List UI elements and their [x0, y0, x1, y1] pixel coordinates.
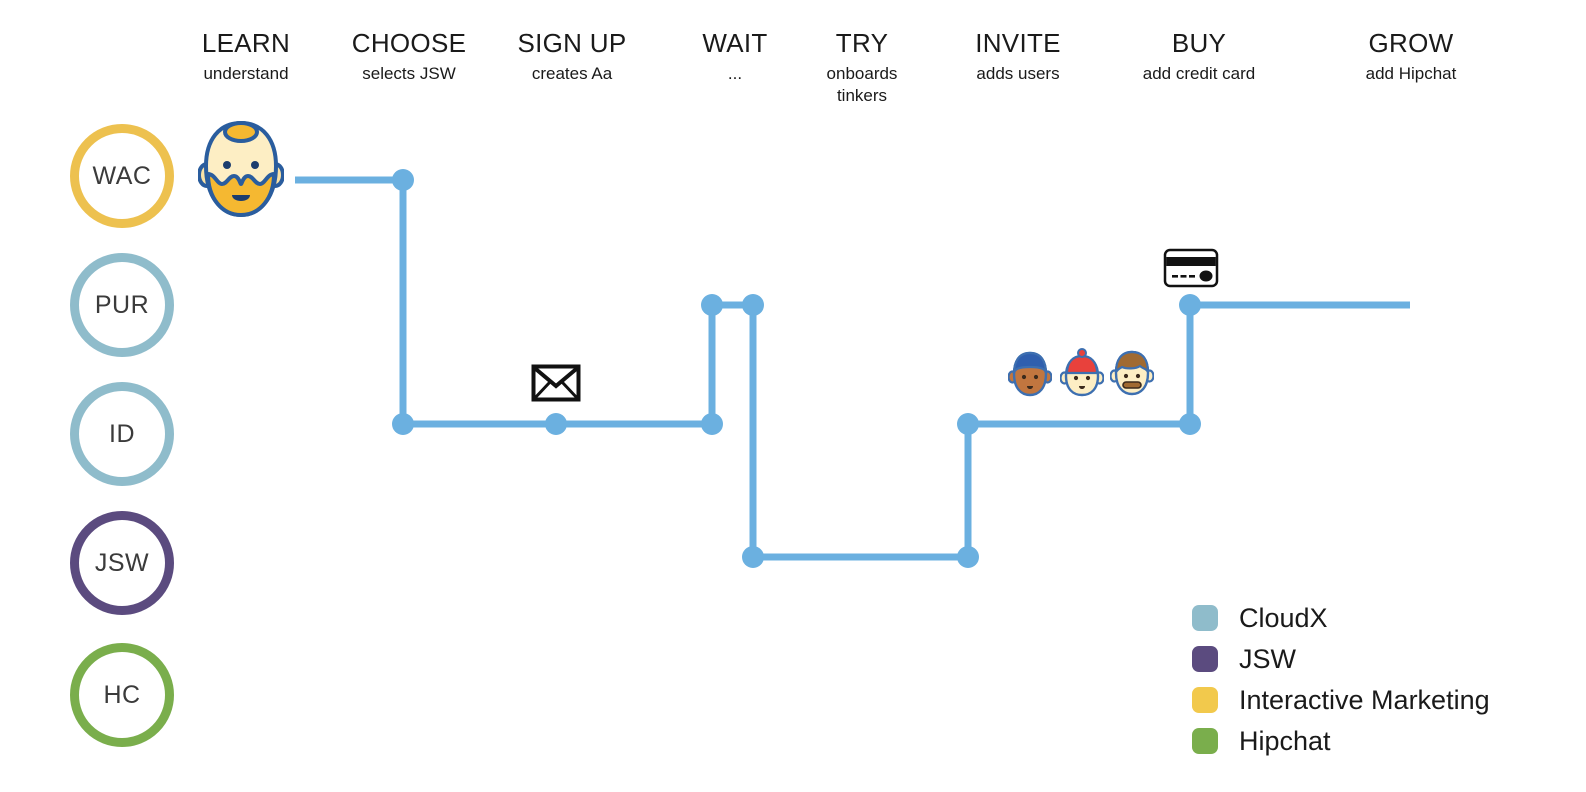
column-subtitle-line2: tinkers	[762, 85, 962, 107]
node-wait-high[interactable]	[701, 294, 723, 316]
legend-item-hipchat[interactable]: Hipchat	[1192, 720, 1490, 761]
stage-circle-label: ID	[109, 420, 135, 449]
node-learn-choose[interactable]	[392, 169, 414, 191]
column-header-buy: BUYadd credit card	[1099, 28, 1299, 85]
column-header-invite: INVITEadds users	[918, 28, 1118, 85]
stage-circle-label: HC	[103, 681, 140, 710]
column-subtitle: add credit card	[1099, 63, 1299, 85]
legend-item-interactive-marketing[interactable]: Interactive Marketing	[1192, 679, 1490, 720]
legend-label: CloudX	[1239, 603, 1328, 633]
stage-circle-label: PUR	[95, 291, 149, 320]
stage-circle-label: JSW	[95, 549, 149, 578]
column-title: BUY	[1099, 28, 1299, 58]
journey-diagram-canvas: LEARNunderstandCHOOSEselects JSWSIGN UPc…	[0, 0, 1586, 792]
stage-circle-jsw[interactable]: JSW	[70, 511, 174, 615]
user-avatar-blue-hair-icon	[1008, 350, 1052, 398]
bearded-user-avatar-icon	[198, 118, 284, 220]
stage-circle-label: WAC	[93, 162, 152, 191]
user-avatar-red-beanie-icon	[1060, 348, 1104, 398]
column-subtitle-line1: add Hipchat	[1311, 63, 1511, 85]
legend-color-swatch	[1192, 605, 1218, 631]
column-subtitle: add Hipchat	[1311, 63, 1511, 85]
stage-circle-wac[interactable]: WAC	[70, 124, 174, 228]
node-signup[interactable]	[545, 413, 567, 435]
legend-color-swatch	[1192, 646, 1218, 672]
node-wait-low[interactable]	[701, 413, 723, 435]
node-try-end[interactable]	[957, 546, 979, 568]
legend-label: Interactive Marketing	[1239, 685, 1490, 715]
column-title: INVITE	[918, 28, 1118, 58]
column-header-grow: GROWadd Hipchat	[1311, 28, 1511, 85]
envelope-icon	[531, 364, 581, 402]
node-buy-low[interactable]	[1179, 413, 1201, 435]
stage-circle-hc[interactable]: HC	[70, 643, 174, 747]
legend-item-cloudx[interactable]: CloudX	[1192, 597, 1490, 638]
legend-color-swatch	[1192, 728, 1218, 754]
legend-label: JSW	[1239, 644, 1296, 674]
node-buy-high[interactable]	[1179, 294, 1201, 316]
column-subtitle-line1: adds users	[918, 63, 1118, 85]
stage-circle-id[interactable]: ID	[70, 382, 174, 486]
stage-circle-pur[interactable]: PUR	[70, 253, 174, 357]
legend-item-jsw[interactable]: JSW	[1192, 638, 1490, 679]
column-subtitle: adds users	[918, 63, 1118, 85]
node-choose-drop[interactable]	[392, 413, 414, 435]
node-invite[interactable]	[957, 413, 979, 435]
column-subtitle-line1: add credit card	[1099, 63, 1299, 85]
column-title: GROW	[1311, 28, 1511, 58]
legend-color-swatch	[1192, 687, 1218, 713]
node-wait-high-2[interactable]	[742, 294, 764, 316]
user-avatar-mustache-icon	[1110, 349, 1154, 397]
flow-polyline	[295, 180, 1410, 557]
credit-card-icon	[1163, 248, 1219, 288]
node-try-low[interactable]	[742, 546, 764, 568]
legend-label: Hipchat	[1239, 726, 1331, 756]
legend: CloudXJSWInteractive MarketingHipchat	[1192, 597, 1490, 761]
